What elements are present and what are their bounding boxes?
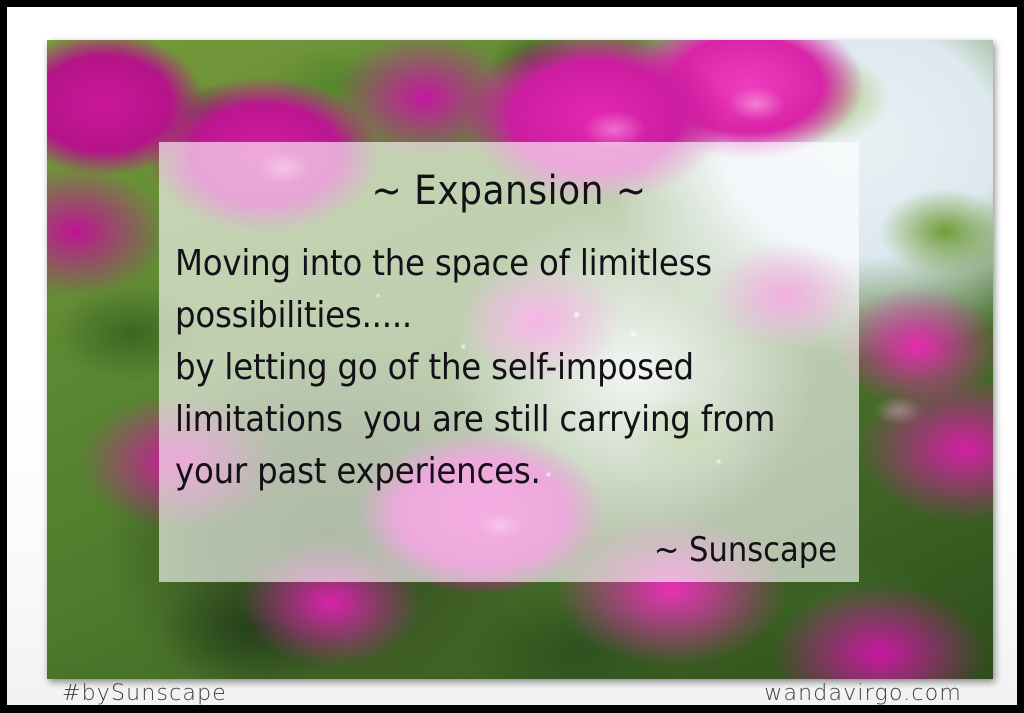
photo-card-frame: ~ Expansion ~ Moving into the space of l…	[0, 0, 1024, 713]
bougainvillea-photograph: ~ Expansion ~ Moving into the space of l…	[47, 40, 993, 679]
quote-attribution: ~ Sunscape	[159, 530, 837, 570]
footer-hashtag: #bySunscape	[62, 681, 227, 706]
white-matte-border: ~ Expansion ~ Moving into the space of l…	[7, 7, 1017, 705]
quote-title: ~ Expansion ~	[159, 168, 859, 214]
quote-body-text: Moving into the space of limitless possi…	[175, 238, 859, 498]
quote-overlay-panel: ~ Expansion ~ Moving into the space of l…	[159, 142, 859, 582]
footer-website[interactable]: wandavirgo.com	[764, 681, 962, 706]
